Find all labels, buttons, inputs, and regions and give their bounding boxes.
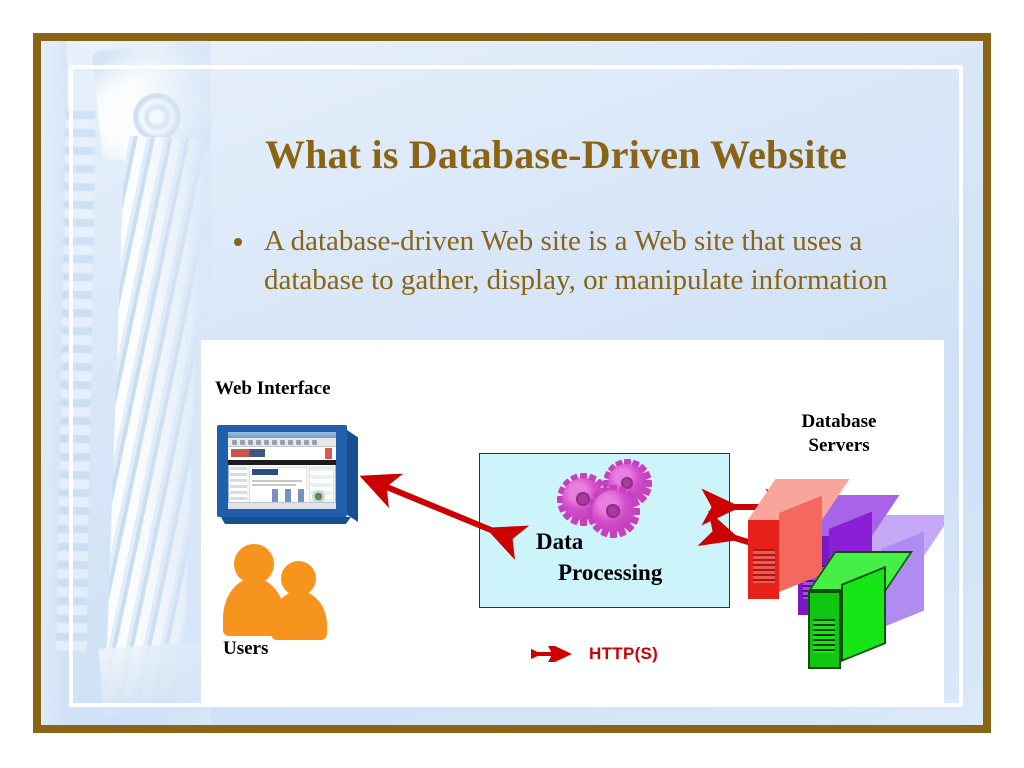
data-processing-label-line1: Data: [536, 529, 583, 554]
users-icon: [223, 544, 343, 640]
bullet-dot-icon: [234, 238, 242, 246]
label-users: Users: [223, 638, 268, 660]
browser-page-navbar: [228, 460, 336, 465]
legend-label-http: HTTP(S): [589, 644, 658, 664]
label-database-servers: Database Servers: [764, 410, 914, 458]
browser-toolbar: [228, 438, 336, 447]
browser-page-badge: [325, 448, 332, 459]
server-front-face: [808, 591, 841, 669]
server-tower-green: [808, 551, 886, 669]
column-dentil-molding: [56, 111, 95, 651]
person-icon-small: [271, 561, 327, 640]
data-processing-label: Data Processing: [536, 526, 662, 588]
architecture-diagram: Web Interface Database Servers Users: [201, 340, 944, 705]
legend-http: HTTP(S): [531, 644, 658, 664]
browser-statusbar: [228, 502, 336, 509]
column-volute-scroll: [133, 93, 181, 141]
bullet-list: A database-driven Web site is a Web site…: [216, 222, 906, 299]
person-body: [271, 591, 327, 640]
server-vents: [813, 619, 835, 653]
web-browser-monitor-icon: [217, 425, 359, 523]
label-web-interface: Web Interface: [215, 378, 331, 400]
database-servers-icon: [746, 465, 931, 680]
column-fluted-shaft: [105, 136, 202, 698]
column-base: [99, 641, 211, 719]
browser-page-logo: [231, 449, 265, 457]
monitor-screen: [228, 432, 336, 509]
column-wall: [41, 41, 67, 725]
browser-page-sidebar: [230, 467, 247, 505]
label-database-servers-line1: Database: [802, 411, 877, 432]
server-vents: [753, 549, 775, 583]
gears-icon: [562, 464, 672, 534]
browser-page-content: [249, 467, 307, 505]
list-item: A database-driven Web site is a Web site…: [216, 222, 906, 299]
data-processing-label-line2: Processing: [536, 557, 662, 588]
monitor-bottom-edge: [221, 517, 351, 524]
slide-frame: What is Database-Driven Website A databa…: [33, 33, 991, 733]
arrow-web-interface-to-data-processing: [351, 468, 521, 540]
label-database-servers-line2: Servers: [808, 435, 869, 456]
slide-canvas: What is Database-Driven Website A databa…: [41, 41, 983, 725]
bullet-text: A database-driven Web site is a Web site…: [264, 225, 888, 296]
server-front-face: [748, 520, 779, 599]
classical-column-background-image: [41, 41, 211, 725]
page-title: What is Database-Driven Website: [191, 133, 921, 177]
server-side-face: [841, 566, 886, 662]
gear-hub: [606, 504, 619, 517]
double-headed-arrow-icon: [531, 646, 575, 662]
